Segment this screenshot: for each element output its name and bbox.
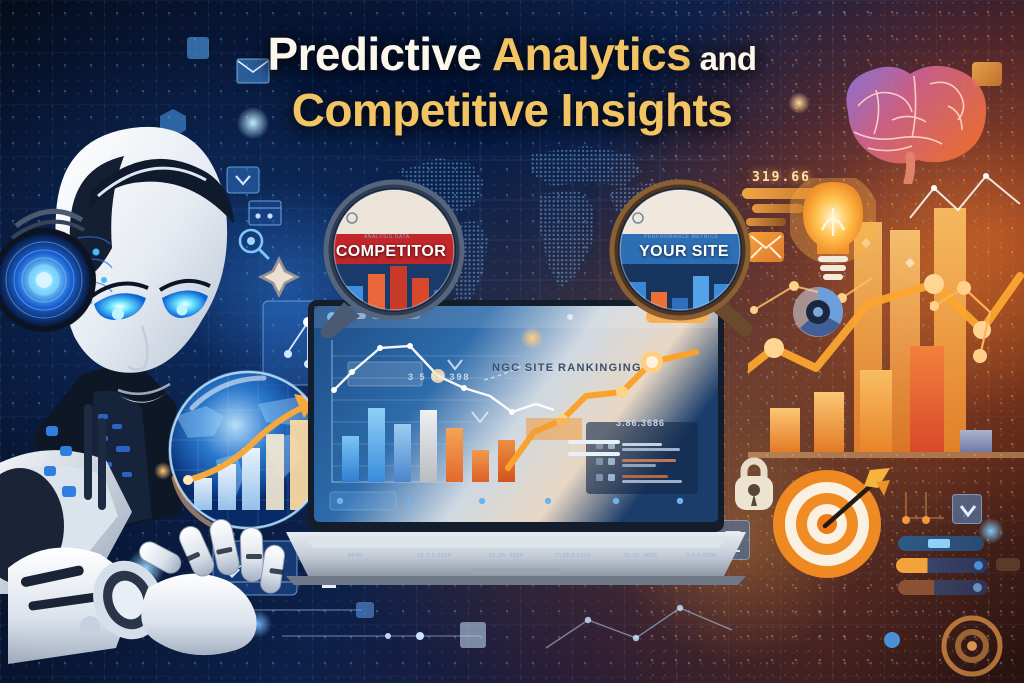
page-title: Predictive Analytics and Competitive Ins… bbox=[0, 26, 1024, 138]
laptop-legend-item: 35.36 .3686 bbox=[623, 553, 658, 559]
target-icon bbox=[772, 462, 890, 580]
laptop-legend-item: 35.36 .3986 bbox=[489, 553, 524, 559]
donut-chart bbox=[790, 284, 846, 340]
hud-connector bbox=[900, 490, 960, 536]
progress-knob[interactable] bbox=[974, 561, 983, 570]
magnifier-competitor[interactable]: ANALYSIS DATA COMPETITOR bbox=[318, 178, 478, 338]
title-line-1: Predictive Analytics and bbox=[0, 26, 1024, 82]
dot-node bbox=[884, 632, 900, 648]
progress-bar[interactable] bbox=[898, 536, 984, 551]
magnifier-competitor-label: COMPETITOR bbox=[324, 243, 458, 261]
title-word-predictive: Predictive bbox=[268, 28, 492, 80]
magnifier-your-site[interactable]: PERFORMANCE METRICS YOUR SITE bbox=[604, 178, 764, 338]
magnifier-your-site-sublabel: PERFORMANCE METRICS bbox=[644, 234, 718, 240]
gear-ring-icon bbox=[928, 610, 1014, 680]
progress-fill bbox=[928, 539, 950, 548]
orange-node-cluster bbox=[930, 270, 1024, 380]
laptop-legend-item: 3138.3.5368 bbox=[555, 553, 591, 559]
laptop-device[interactable]: NGC SITE RANKINGING 3.86.3686 3 5 58 398… bbox=[286, 300, 746, 585]
chevron-down-icon bbox=[952, 494, 982, 524]
laptop-legend-item: 38.3.3.5368 bbox=[417, 553, 452, 559]
title-word-and: and bbox=[691, 40, 756, 77]
laptop-metric-secondary: 3 5 58 398 bbox=[408, 372, 471, 382]
laptop-screen-heading-left: NGC SITE bbox=[492, 362, 554, 374]
poster-canvas: ANALYSIS DATA COMPETITOR bbox=[0, 0, 1024, 683]
lightbulb-icon bbox=[790, 178, 876, 284]
laptop-metric-value: 3.86.3686 bbox=[616, 418, 665, 428]
constellation-graphic bbox=[540, 590, 740, 670]
progress-bar[interactable] bbox=[898, 580, 988, 595]
laptop-legend-item: 8648 bbox=[348, 553, 362, 559]
hud-chip bbox=[996, 558, 1020, 571]
title-line-2: Competitive Insights bbox=[0, 82, 1024, 138]
progress-bar[interactable] bbox=[896, 558, 988, 573]
title-word-analytics: Analytics bbox=[492, 28, 691, 80]
magnifier-competitor-sublabel: ANALYSIS DATA bbox=[364, 234, 410, 240]
laptop-screen-heading-right: RANKINGING bbox=[558, 362, 642, 374]
progress-knob[interactable] bbox=[973, 583, 982, 592]
laptop-legend-item: 3.8.6.0986 bbox=[686, 553, 717, 559]
magnifier-your-site-label: YOUR SITE bbox=[610, 243, 758, 261]
